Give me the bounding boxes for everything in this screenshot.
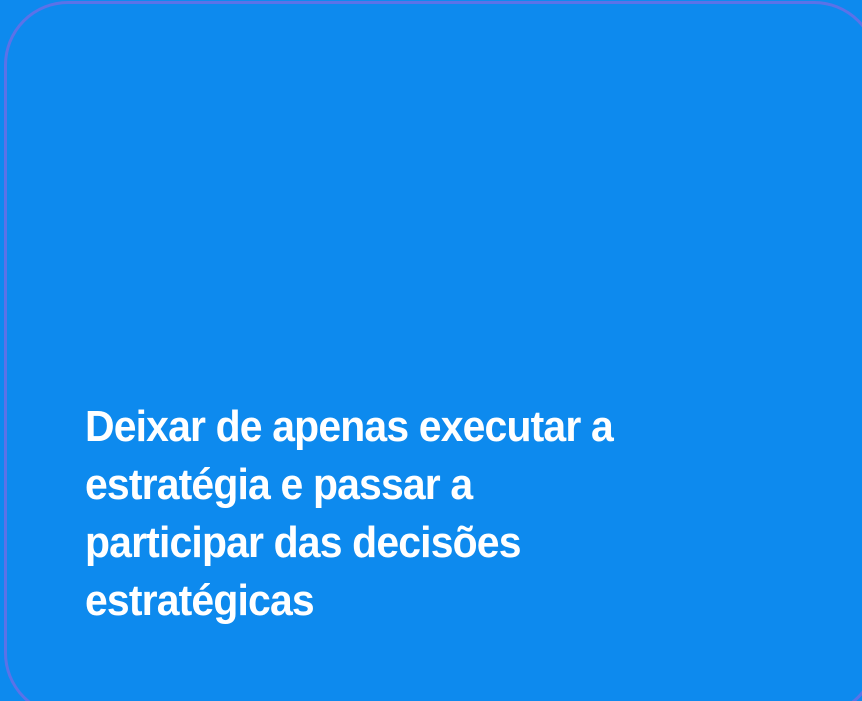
headline-line: estratégicas — [85, 572, 699, 630]
slide: Deixar de apenas executar a estratégia e… — [0, 0, 862, 701]
headline: Deixar de apenas executar a estratégia e… — [85, 398, 745, 630]
headline-line: participar das decisões — [85, 514, 699, 572]
headline-line: estratégia e passar a — [85, 456, 699, 514]
headline-line: Deixar de apenas executar a — [85, 398, 699, 456]
